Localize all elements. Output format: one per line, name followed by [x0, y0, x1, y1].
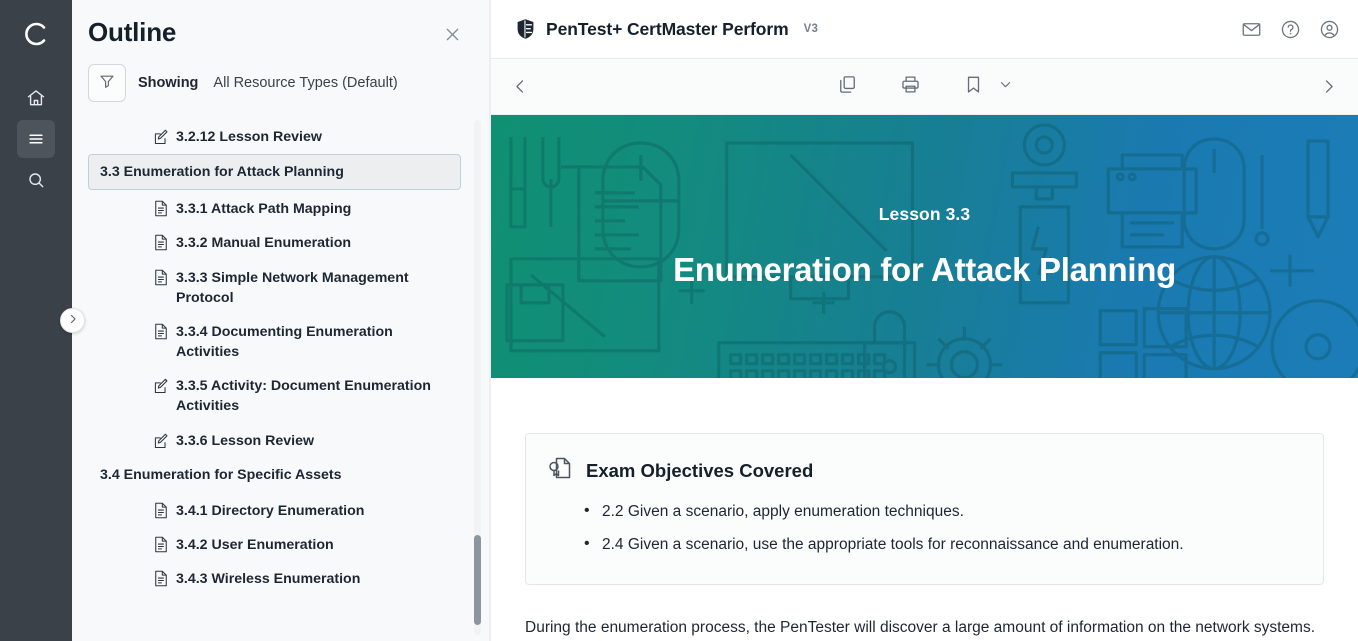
panel-collapse-handle[interactable]	[60, 308, 85, 333]
main-content: PenTest+ CertMaster Perform V3	[490, 0, 1358, 641]
page-icon	[154, 200, 168, 217]
outline-item[interactable]: 3.3.1 Attack Path Mapping	[88, 192, 461, 226]
page-icon	[154, 502, 168, 519]
print-button[interactable]	[900, 74, 921, 100]
outline-item-label: 3.3.4 Documenting Enumeration Activities	[176, 322, 455, 362]
outline-item[interactable]: 3.4 Enumeration for Specific Assets	[88, 458, 461, 492]
outline-scrollbar-thumb[interactable]	[474, 535, 481, 625]
next-page-button[interactable]	[1319, 77, 1338, 96]
activity-icon	[154, 377, 168, 394]
copy-button[interactable]	[837, 74, 858, 100]
brand-title: PenTest+ CertMaster Perform	[546, 19, 789, 40]
bookmark-button[interactable]	[963, 74, 984, 100]
page-icon	[154, 570, 168, 587]
toolbar-center-actions	[491, 74, 1358, 100]
sidebar-item-search[interactable]	[17, 161, 55, 199]
filter-row: Showing All Resource Types (Default)	[72, 50, 489, 112]
page-icon	[154, 323, 168, 340]
outline-list[interactable]: 3.2.12 Lesson Review3.3 Enumeration for …	[72, 112, 489, 641]
outline-item[interactable]: 3.4.2 User Enumeration	[88, 528, 461, 562]
outline-item[interactable]: 3.3.5 Activity: Document Enumeration Act…	[88, 369, 461, 423]
showing-label: Showing	[138, 75, 198, 91]
hero-tech-pattern	[491, 115, 1358, 378]
outline-item-label: 3.2.12 Lesson Review	[176, 127, 455, 147]
outline-item[interactable]: 3.3.6 Lesson Review	[88, 424, 461, 458]
outline-item-label: 3.3 Enumeration for Attack Planning	[100, 162, 454, 182]
outline-item[interactable]: 3.4.1 Directory Enumeration	[88, 494, 461, 528]
outline-item-label: 3.3.2 Manual Enumeration	[176, 233, 455, 253]
outline-item-label: 3.4.1 Directory Enumeration	[176, 501, 455, 521]
print-icon	[900, 74, 921, 100]
exam-objectives-title: Exam Objectives Covered	[586, 460, 813, 482]
outline-item[interactable]: 3.3.4 Documenting Enumeration Activities	[88, 315, 461, 369]
outline-item-label: 3.3.6 Lesson Review	[176, 431, 455, 451]
lesson-article: Exam Objectives Covered 2.2 Given a scen…	[491, 378, 1358, 641]
c-logo-icon[interactable]	[16, 14, 56, 54]
outline-item-label: 3.4.2 User Enumeration	[176, 535, 455, 555]
hero-lesson-title: Enumeration for Attack Planning	[673, 251, 1176, 289]
hero-lesson-number: Lesson 3.3	[879, 204, 970, 225]
brand: PenTest+ CertMaster Perform V3	[515, 18, 818, 40]
page-title: Outline	[88, 18, 176, 47]
sidebar-item-outline[interactable]	[17, 120, 55, 158]
page-icon	[154, 269, 168, 286]
chevron-down-icon	[998, 77, 1013, 97]
outline-item[interactable]: 3.3 Enumeration for Attack Planning	[88, 154, 461, 190]
sidebar-item-home[interactable]	[17, 79, 55, 117]
outline-item[interactable]: 3.3.3 Simple Network Management Protocol	[88, 261, 461, 315]
filter-funnel-icon	[98, 72, 116, 95]
app-topbar: PenTest+ CertMaster Perform V3	[491, 0, 1358, 59]
page-icon	[154, 234, 168, 251]
outline-item[interactable]: 3.2.12 Lesson Review	[88, 120, 461, 154]
help-icon[interactable]	[1280, 19, 1301, 40]
topbar-icons	[1241, 19, 1340, 40]
lesson-hero-banner: Lesson 3.3 Enumeration for Attack Planni…	[491, 115, 1358, 378]
version-badge: V3	[804, 23, 819, 35]
lesson-intro-paragraph: During the enumeration process, the PenT…	[525, 615, 1324, 641]
outline-item-label: 3.3.3 Simple Network Management Protocol	[176, 268, 455, 308]
chevron-right-icon	[67, 312, 79, 330]
search-icon	[26, 170, 46, 190]
close-icon	[443, 25, 462, 49]
exam-objectives-box: Exam Objectives Covered 2.2 Given a scen…	[525, 433, 1324, 585]
page-icon	[154, 536, 168, 553]
previous-page-button[interactable]	[511, 77, 530, 96]
app-root: Outline Showing All Resource Types (Defa…	[0, 0, 1358, 641]
close-outline-button[interactable]	[439, 24, 465, 50]
exam-objective-item: 2.4 Given a scenario, use the appropriat…	[584, 528, 1299, 561]
document-toolbar	[491, 59, 1358, 115]
bookmark-icon	[963, 74, 984, 100]
menu-icon	[26, 129, 46, 149]
outline-header: Outline	[72, 0, 489, 50]
account-icon[interactable]	[1319, 19, 1340, 40]
filter-button[interactable]	[88, 64, 126, 102]
objectives-doc-icon	[546, 454, 574, 487]
exam-objectives-header: Exam Objectives Covered	[546, 454, 1299, 487]
outline-scrollbar[interactable]	[474, 120, 481, 635]
outline-panel: Outline Showing All Resource Types (Defa…	[72, 0, 490, 641]
outline-item-label: 3.4 Enumeration for Specific Assets	[100, 465, 455, 485]
outline-item-label: 3.3.5 Activity: Document Enumeration Act…	[176, 376, 455, 416]
showing-value[interactable]: All Resource Types (Default)	[213, 75, 397, 91]
exam-objectives-list: 2.2 Given a scenario, apply enumeration …	[584, 495, 1299, 562]
exam-objective-item: 2.2 Given a scenario, apply enumeration …	[584, 495, 1299, 528]
copy-icon	[837, 74, 858, 100]
home-icon	[26, 88, 46, 108]
outline-item-label: 3.4.3 Wireless Enumeration	[176, 569, 455, 589]
mail-icon[interactable]	[1241, 19, 1262, 40]
outline-item-label: 3.3.1 Attack Path Mapping	[176, 199, 455, 219]
activity-icon	[154, 432, 168, 449]
activity-icon	[154, 128, 168, 145]
comptia-shield-icon	[515, 18, 536, 40]
bookmark-dropdown-button[interactable]	[998, 77, 1013, 97]
outline-item[interactable]: 3.4.3 Wireless Enumeration	[88, 562, 461, 596]
outline-item[interactable]: 3.3.2 Manual Enumeration	[88, 226, 461, 260]
